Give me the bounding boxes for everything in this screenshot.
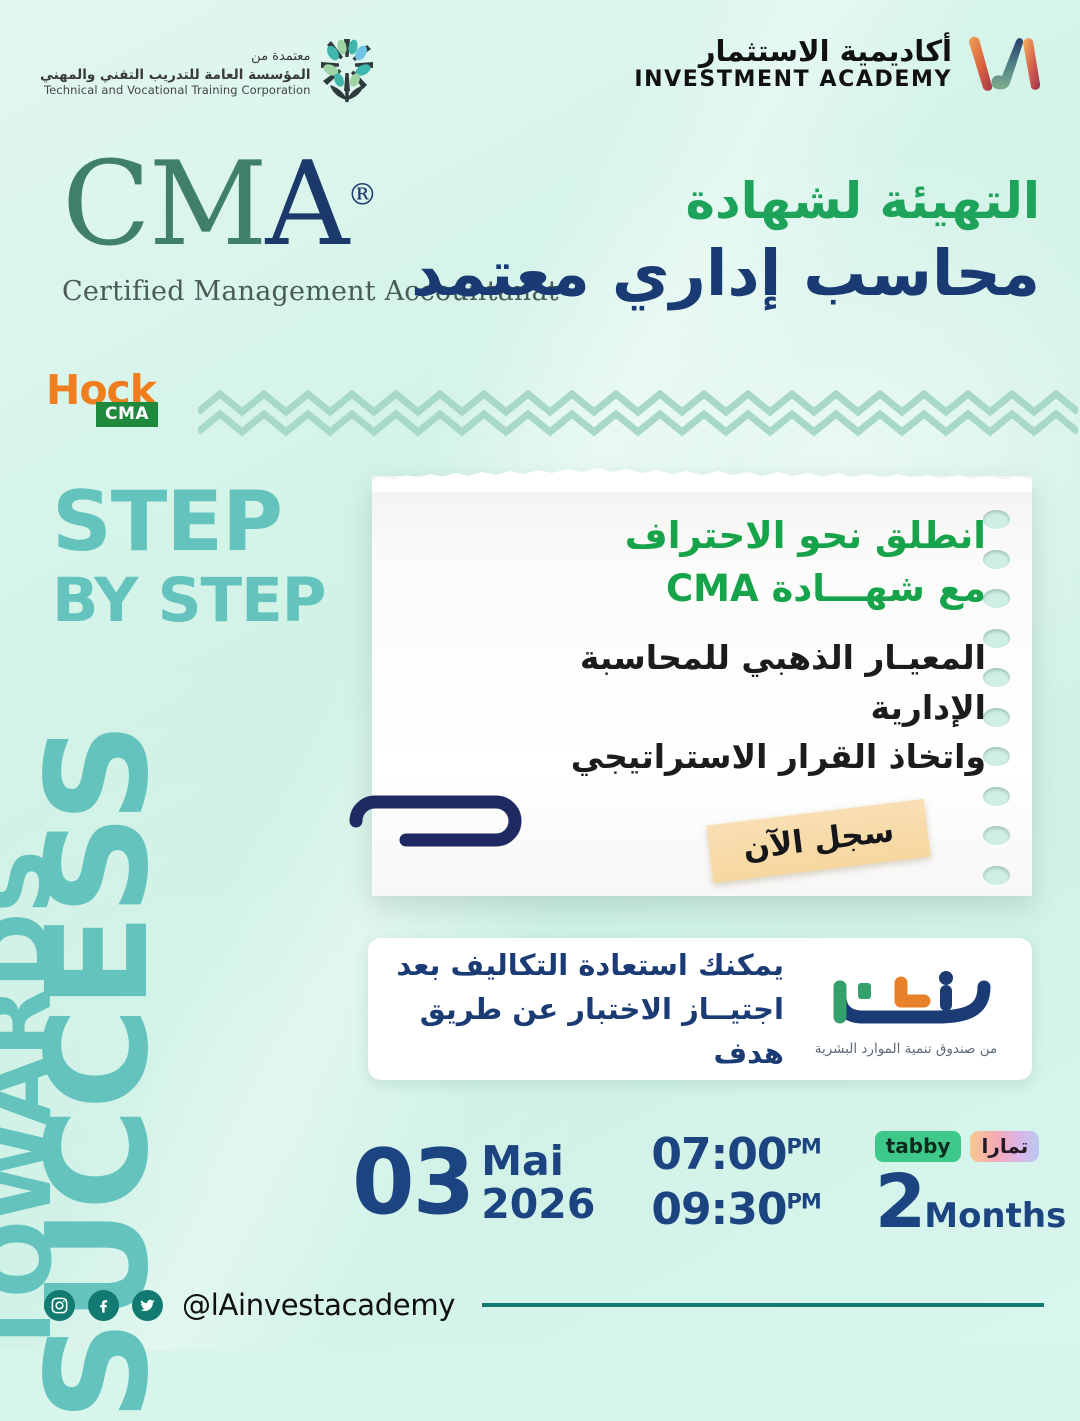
social-handle: @lAinvestacademy bbox=[182, 1288, 455, 1322]
cma-logo-a: A bbox=[266, 137, 348, 272]
duration-value: 2 Months bbox=[875, 1169, 1067, 1236]
card-green-line-2: مع شهـــادة CMA bbox=[466, 563, 986, 616]
note-card: انطلق نحو الاحتراف مع شهـــادة CMA المعي… bbox=[372, 476, 1032, 896]
register-now-tag[interactable]: سجل الآن bbox=[706, 799, 931, 883]
hock-cma-badge: CMA bbox=[96, 402, 158, 427]
facebook-icon[interactable] bbox=[88, 1290, 119, 1321]
punch-hole bbox=[983, 747, 1010, 766]
card-body-line-2: واتخاذ القرار الاستراتيجي bbox=[466, 732, 986, 782]
hock-cma-logo: Hock CMA bbox=[46, 372, 156, 409]
duration-block: tabby تمارا 2 Months bbox=[875, 1131, 1067, 1236]
instagram-icon[interactable] bbox=[44, 1290, 75, 1321]
hadaf-logo: من صندوق تنمية الموارد البشرية bbox=[806, 961, 1006, 1057]
punch-holes bbox=[983, 510, 1010, 885]
hadaf-wordmark-icon bbox=[806, 961, 1006, 1033]
slogan-step-block: STEP BY STEP bbox=[52, 484, 326, 631]
slogan-by-step: BY STEP bbox=[52, 570, 326, 631]
hadaf-subtitle: من صندوق تنمية الموارد البشرية bbox=[806, 1041, 1006, 1057]
schedule-row: 03 Mai 2026 07:00PM 09:30PM tabby تمارا … bbox=[352, 1118, 1052, 1248]
academy-name-english: INVESTMENT ACADEMY bbox=[634, 68, 952, 93]
tamara-badge: تمارا bbox=[970, 1131, 1039, 1162]
duration-unit: Months bbox=[924, 1196, 1066, 1236]
time-start-period: PM bbox=[786, 1135, 820, 1159]
punch-hole bbox=[983, 550, 1010, 569]
punch-hole bbox=[983, 668, 1010, 687]
tvtc-palm-star-icon bbox=[320, 38, 374, 108]
hadaf-text-line-2: اجتيــاز الاختبار عن طريق هدف bbox=[388, 987, 784, 1075]
punch-hole bbox=[983, 708, 1010, 727]
hadaf-text: يمكنك استعادة التكاليف بعد اجتيــاز الاخ… bbox=[388, 943, 784, 1075]
tvtc-accredited-by-label: معتمدة من bbox=[40, 49, 310, 64]
punch-hole bbox=[983, 826, 1010, 845]
time-block: 07:00PM 09:30PM bbox=[651, 1128, 820, 1237]
punch-hole bbox=[983, 510, 1010, 529]
tvtc-name-english: Technical and Vocational Training Corpor… bbox=[40, 83, 310, 97]
footer: @lAinvestacademy bbox=[44, 1288, 1044, 1322]
punch-hole bbox=[983, 787, 1010, 806]
date-block: 03 Mai 2026 bbox=[352, 1140, 595, 1227]
paperclip-icon bbox=[346, 792, 542, 850]
page-title: التهيئة لشهادة محاسب إداري معتمد bbox=[411, 172, 1040, 311]
time-end: 09:30 bbox=[651, 1184, 786, 1235]
time-end-row: 09:30PM bbox=[651, 1183, 820, 1238]
tabby-badge: tabby bbox=[875, 1131, 962, 1162]
headline-line-1: التهيئة لشهادة bbox=[411, 172, 1040, 231]
torn-paper-edge bbox=[372, 466, 1032, 492]
punch-hole bbox=[983, 866, 1010, 885]
hadaf-refund-bar: يمكنك استعادة التكاليف بعد اجتيــاز الاخ… bbox=[368, 938, 1032, 1080]
card-green-line-1: انطلق نحو الاحتراف bbox=[466, 510, 986, 563]
card-body-line-1: المعيـار الذهبي للمحاسبة الإدارية bbox=[466, 633, 986, 732]
punch-hole bbox=[983, 589, 1010, 608]
investment-academy-m-icon bbox=[966, 30, 1042, 98]
tvtc-accreditation-logo: معتمدة من المؤسسة العامة للتدريب التقني … bbox=[40, 38, 374, 108]
registered-trademark-icon: ® bbox=[347, 177, 375, 212]
twitter-icon[interactable] bbox=[132, 1290, 163, 1321]
duration-number: 2 bbox=[875, 1169, 925, 1236]
event-year: 2026 bbox=[481, 1183, 595, 1226]
card-text-block: انطلق نحو الاحتراف مع شهـــادة CMA المعي… bbox=[466, 510, 986, 782]
payment-badges: tabby تمارا bbox=[875, 1131, 1067, 1162]
time-start-row: 07:00PM bbox=[651, 1128, 820, 1183]
hadaf-text-line-1: يمكنك استعادة التكاليف بعد bbox=[388, 943, 784, 987]
slogan-step: STEP bbox=[52, 484, 326, 560]
tvtc-name-arabic: المؤسسة العامة للتدريب التقني والمهني bbox=[40, 67, 310, 83]
event-day: 03 bbox=[352, 1143, 473, 1222]
time-start: 07:00 bbox=[651, 1129, 786, 1180]
footer-divider-line bbox=[482, 1303, 1044, 1307]
cma-logo-cm: CM bbox=[62, 137, 266, 272]
register-now-label: سجل الآن bbox=[741, 813, 896, 867]
headline-line-2: محاسب إداري معتمد bbox=[411, 237, 1040, 311]
punch-hole bbox=[983, 629, 1010, 648]
time-end-period: PM bbox=[786, 1189, 820, 1213]
event-month: Mai bbox=[481, 1140, 595, 1183]
academy-name-arabic: أكاديمية الاستثمار bbox=[634, 35, 952, 67]
zigzag-divider bbox=[198, 390, 1078, 438]
investment-academy-logo: أكاديمية الاستثمار INVESTMENT ACADEMY bbox=[634, 30, 1042, 98]
